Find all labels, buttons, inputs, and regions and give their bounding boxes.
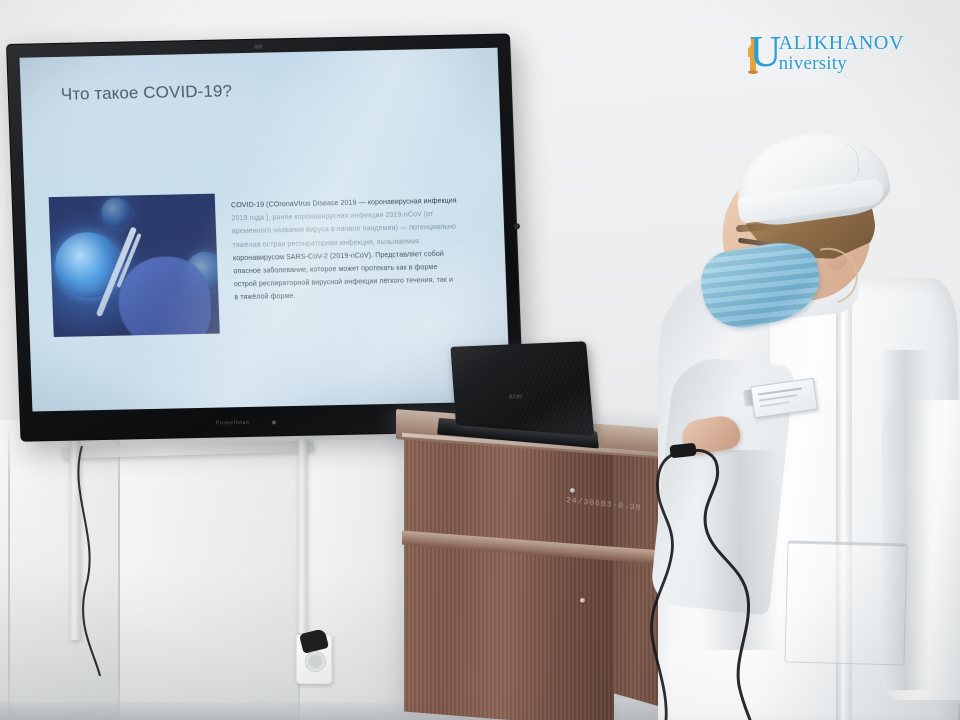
slide-paragraph: COVID-19 (COronaVIrus Disease 2019 — кор… — [231, 188, 490, 333]
slide-title: Что такое COVID-19? — [61, 76, 476, 105]
university-logo-watermark: U ALIKHANOV niversity — [744, 30, 904, 76]
podium-front-panel — [404, 438, 614, 720]
laptop-brand-logo: acer — [509, 394, 524, 401]
coronavirus-test-photo — [49, 194, 220, 337]
slide-body: COVID-19 (COronaVIrus Disease 2019 — кор… — [49, 188, 490, 337]
photograph-scene: Что такое COVID-19? COVID-19 (COronaVIru… — [0, 0, 960, 720]
logo-name-line2: niversity — [779, 54, 904, 73]
camera-icon — [254, 45, 262, 49]
laptop-lid[interactable]: acer — [450, 341, 594, 436]
badge-text-line — [759, 394, 797, 401]
fabric-fold — [700, 450, 780, 650]
display-status-led — [272, 420, 276, 424]
socket-receptacle — [305, 651, 326, 672]
laptop[interactable]: acer — [432, 344, 602, 454]
fabric-fold — [880, 350, 930, 690]
wall-mount-rail — [70, 440, 80, 640]
wall-mount-rail — [298, 438, 307, 633]
university-logo-text: ALIKHANOV niversity — [779, 33, 904, 73]
logo-name-line1: ALIKHANOV — [779, 33, 904, 53]
university-logo-icon: U — [744, 30, 778, 76]
virus-particle-icon — [101, 197, 132, 228]
wall-power-socket[interactable] — [296, 634, 332, 684]
display-brand-label: Promethean — [216, 420, 249, 427]
side-port[interactable] — [514, 223, 520, 229]
gloved-hand — [117, 256, 212, 337]
podium-screw — [570, 488, 575, 493]
podium-screw — [580, 598, 585, 603]
badge-text-line — [760, 401, 790, 407]
logo-initial: U — [750, 32, 782, 72]
presenter — [640, 150, 960, 720]
